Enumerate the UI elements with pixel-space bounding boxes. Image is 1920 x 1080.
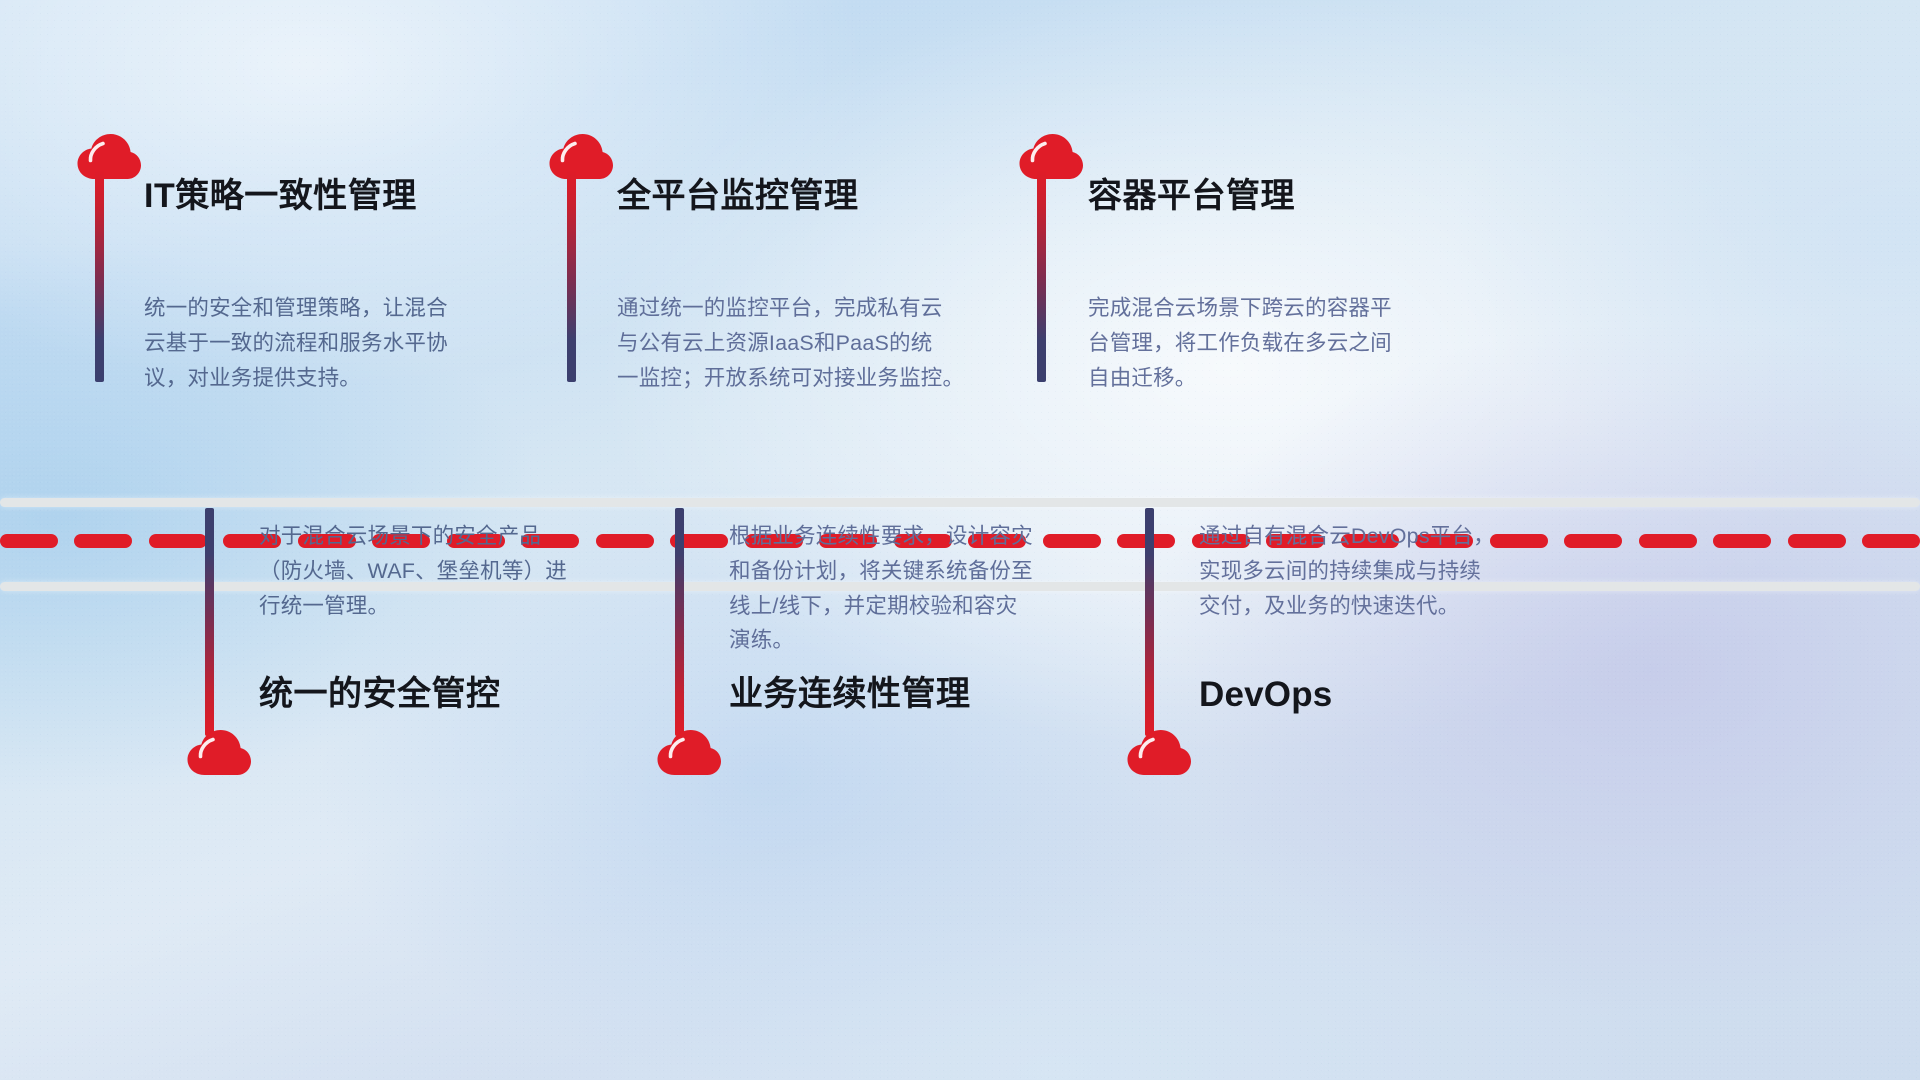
dash-segment xyxy=(1713,534,1771,548)
bottom-item-title: 统一的安全管控 xyxy=(259,676,501,713)
top-item-description: 统一的安全和管理策略，让混合 云基于一致的流程和服务水平协 议，对业务提供支持。 xyxy=(144,291,504,395)
connector-stem xyxy=(95,170,104,382)
dash-segment xyxy=(1564,534,1622,548)
connector-stem xyxy=(1145,508,1154,736)
top-item-description: 完成混合云场景下跨云的容器平 台管理，将工作负载在多云之间 自由迁移。 xyxy=(1088,291,1448,395)
connector-stem xyxy=(567,170,576,382)
top-item-title: 容器平台管理 xyxy=(1088,178,1295,215)
cloud-icon xyxy=(548,132,614,182)
connector-stem xyxy=(675,508,684,736)
dash-segment xyxy=(0,534,58,548)
bottom-item-description: 对于混合云场景下的安全产品 （防火墙、WAF、堡垒机等）进 行统一管理。 xyxy=(259,519,619,623)
cloud-icon xyxy=(186,728,252,778)
dash-segment xyxy=(1639,534,1697,548)
infographic-canvas: IT策略一致性管理 统一的安全和管理策略，让混合 云基于一致的流程和服务水平协 … xyxy=(0,0,1920,1080)
top-item-title: IT策略一致性管理 xyxy=(144,178,417,215)
cloud-icon xyxy=(1018,132,1084,182)
dash-segment xyxy=(1862,534,1920,548)
dash-segment xyxy=(1788,534,1846,548)
cloud-icon xyxy=(656,728,722,778)
divider-rule-upper xyxy=(0,498,1920,507)
dash-segment xyxy=(74,534,132,548)
dash-segment xyxy=(149,534,207,548)
top-item-description: 通过统一的监控平台，完成私有云 与公有云上资源IaaS和PaaS的统 一监控；开… xyxy=(617,291,977,395)
bottom-item-description: 通过自有混合云DevOps平台， 实现多云间的持续集成与持续 交付，及业务的快速… xyxy=(1199,519,1559,623)
connector-stem xyxy=(1037,170,1046,382)
cloud-icon xyxy=(76,132,142,182)
bottom-item-title: 业务连续性管理 xyxy=(729,676,971,713)
connector-stem xyxy=(205,508,214,736)
cloud-icon xyxy=(1126,728,1192,778)
top-item-title: 全平台监控管理 xyxy=(617,178,859,215)
bottom-item-description: 根据业务连续性要求，设计容灾 和备份计划，将关键系统备份至 线上/线下，并定期校… xyxy=(729,519,1089,658)
bottom-item-title: DevOps xyxy=(1199,676,1332,715)
